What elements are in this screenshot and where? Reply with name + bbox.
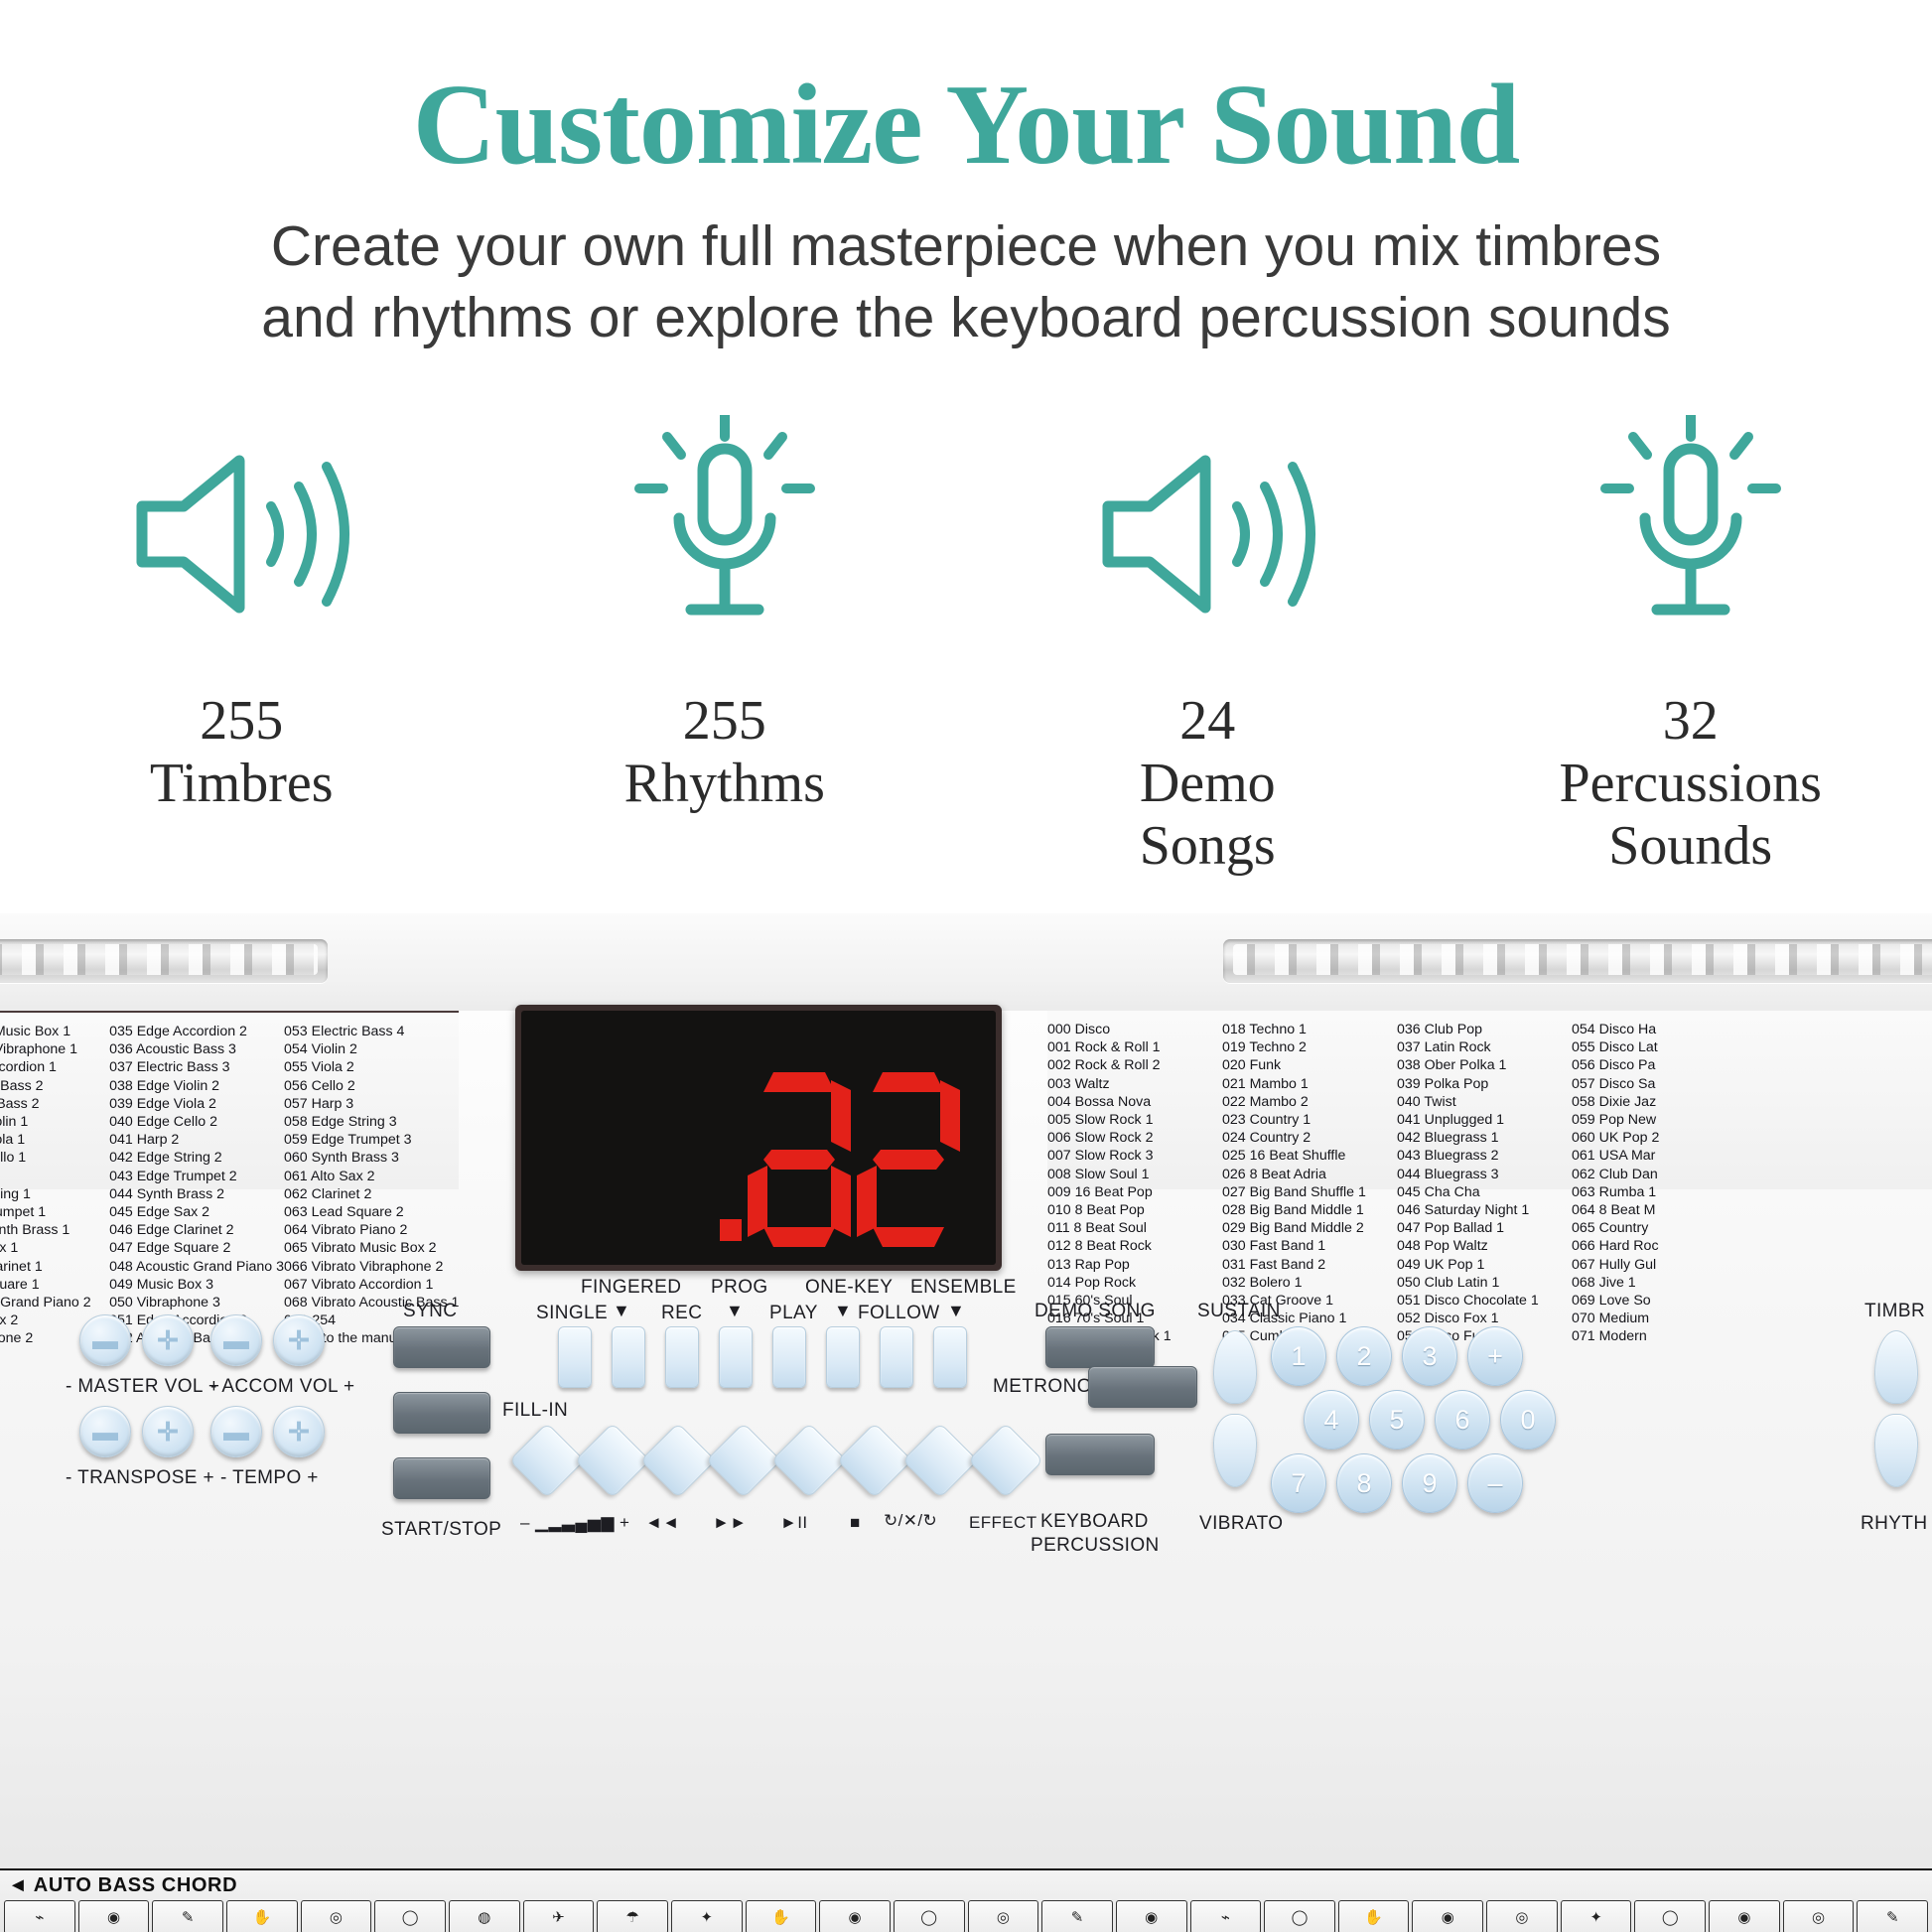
numpad-key-8[interactable]: 8 [1336,1453,1392,1513]
timbre-list-item: String 1 [0,1185,109,1203]
timbre-list-item: 040 Edge Cello 2 [109,1113,284,1131]
effect-label: EFFECT [969,1513,1037,1533]
speaker-wave-icon [1088,405,1326,663]
rhythm-list-item: 005 Slow Rock 1 [1047,1111,1222,1129]
numpad-key-3[interactable]: 3 [1402,1326,1457,1386]
rhythm-list-item: 000 Disco [1047,1021,1222,1038]
chord-icon[interactable]: ◉ [78,1900,150,1932]
chord-icon[interactable]: ◉ [1116,1900,1187,1932]
accom-vol-plus-button[interactable]: ✛ [273,1314,325,1366]
transpose-label: - TRANSPOSE + [66,1467,214,1489]
chord-icon[interactable]: ◯ [1264,1900,1335,1932]
chord-icon[interactable]: ◯ [894,1900,965,1932]
speaker-grille-left [0,939,328,983]
chord-icon[interactable]: ✎ [152,1900,223,1932]
rhythm-list-panel: 000 Disco001 Rock & Roll 1002 Rock & Rol… [1047,1011,1932,1189]
feature-count: 255 [683,689,766,753]
mode-button-play[interactable] [772,1326,806,1388]
chord-icon[interactable]: ✋ [746,1900,817,1932]
rhythm-list-item: 023 Country 1 [1222,1111,1397,1129]
rhythm-list-item: 029 Big Band Middle 2 [1222,1219,1397,1237]
feature-row: 255 Timbres 255 Rhythms [0,405,1932,878]
chord-icon[interactable]: ◍ [449,1900,520,1932]
timbre-list-item: 061 Alto Sax 2 [284,1168,459,1185]
timbre-list-item: 036 Acoustic Bass 3 [109,1040,284,1058]
rhythm-list-item: 061 USA Mar [1572,1147,1746,1165]
chevron-down-icon-3: ▼ [834,1301,852,1321]
mode-button-one-key[interactable] [826,1326,860,1388]
rhythm-list-item: 007 Slow Rock 3 [1047,1147,1222,1165]
timbre-list-item: 055 Viola 2 [284,1058,459,1076]
numpad-key-minus[interactable]: – [1467,1453,1523,1513]
demo-song-label: DEMO SONG [1035,1301,1156,1322]
fill-in-button[interactable] [393,1392,490,1434]
demo-song-button[interactable] [1045,1326,1155,1368]
numpad-key-plus[interactable]: + [1467,1326,1523,1386]
subtitle-line-1: Create your own full masterpiece when yo… [119,210,1813,282]
keyboard-photo: o Music Box 1o Vibraphone 1 Accordion 1t… [0,894,1932,1932]
start-stop-label: START/STOP [381,1519,501,1541]
timbre-list-item: 049 Music Box 3 [109,1276,284,1294]
timbre-list-item: 045 Edge Sax 2 [109,1203,284,1221]
play-pause-icon: ►II [780,1513,807,1533]
timbre-list-item: 054 Violin 2 [284,1040,459,1058]
timbre-list-item: 038 Edge Violin 2 [109,1077,284,1095]
chord-icon[interactable]: ◯ [1634,1900,1706,1932]
tempo-minus-button[interactable]: ▬ [210,1406,262,1457]
chord-icon[interactable]: ⌁ [1190,1900,1262,1932]
repeat-mode-button[interactable] [902,1423,978,1498]
rhythm-list-item: 071 Modern [1572,1327,1746,1345]
effect-button[interactable] [968,1423,1043,1498]
numpad-key-7[interactable]: 7 [1271,1453,1326,1513]
rhythm-list-item: 047 Pop Ballad 1 [1397,1219,1572,1237]
feature-demo-songs: 24 Demo Songs [966,405,1449,878]
chevron-down-icon-4: ▼ [947,1301,965,1321]
plus-icon: ✛ [288,1419,310,1445]
chord-icon[interactable]: ✋ [226,1900,298,1932]
product-feature-page: Customize Your Sound Create your own ful… [0,0,1932,1932]
rhythm-column-1: 000 Disco001 Rock & Roll 1002 Rock & Rol… [1047,1021,1222,1189]
timbre-list-item: Accordion 1 [0,1058,109,1076]
timbre-list-item: 048 Acoustic Grand Piano 3 [109,1258,284,1276]
chord-icon[interactable]: ◎ [1486,1900,1558,1932]
rhythm-list-item: 001 Rock & Roll 1 [1047,1038,1222,1056]
vibrato-button[interactable] [1213,1414,1257,1487]
sustain-label: SUSTAIN [1197,1301,1281,1322]
feature-label: Timbres [150,753,334,815]
feature-rhythms: 255 Rhythms [483,405,967,878]
chord-icon[interactable]: ◎ [968,1900,1039,1932]
speaker-grille-right [1223,939,1932,983]
feature-timbres: 255 Timbres [0,405,483,878]
page-title: Customize Your Sound [0,68,1932,183]
rhythm-column-4: 054 Disco Ha055 Disco Lat056 Disco Pa057… [1572,1021,1746,1189]
rhythm-list-item: 026 8 Beat Adria [1222,1166,1397,1183]
follow-label: FOLLOW [858,1303,940,1324]
rhythm-button[interactable] [1874,1414,1918,1487]
timbre-list-item: 053 Electric Bass 4 [284,1023,459,1040]
master-vol-plus-button[interactable]: ✛ [142,1314,194,1366]
previous-track-icon: ◄◄ [645,1513,679,1533]
chord-icon[interactable]: ✦ [1561,1900,1632,1932]
tempo-label: - TEMPO + [220,1467,319,1489]
numpad-key-2[interactable]: 2 [1336,1326,1392,1386]
numpad-key-9[interactable]: 9 [1402,1453,1457,1513]
metronome-button[interactable] [1088,1366,1197,1408]
rhythm-list-item: 014 Pop Rock [1047,1274,1222,1292]
rhythm-list-item: 056 Disco Pa [1572,1056,1746,1074]
timbre-list-item: 1 [0,1168,109,1185]
rhythm-list-item: 044 Bluegrass 3 [1397,1166,1572,1183]
timbre-list-item: Violin 1 [0,1113,109,1131]
led-display [515,1005,1002,1271]
mode-button-fingered[interactable] [612,1326,645,1388]
keyboard-percussion-button[interactable] [1045,1434,1155,1475]
timbre-list-item: Cello 1 [0,1149,109,1167]
rhythm-list-item: 030 Fast Band 1 [1222,1237,1397,1255]
timbre-list-panel: o Music Box 1o Vibraphone 1 Accordion 1t… [0,1011,459,1189]
start-stop-button[interactable] [393,1457,490,1499]
timbre-column-3: 053 Electric Bass 4054 Violin 2055 Viola… [284,1023,459,1189]
timbre-list-item: Viola 1 [0,1131,109,1149]
rhythm-list-item: 058 Dixie Jaz [1572,1093,1746,1111]
feature-label: Percussions [1560,753,1822,815]
prog-label: PROG [711,1277,768,1299]
chord-icon[interactable]: ◎ [1783,1900,1855,1932]
rhythm-list-item: 054 Disco Ha [1572,1021,1746,1038]
one-key-label: ONE-KEY [805,1277,893,1299]
rhythm-list-item: 009 16 Beat Pop [1047,1183,1222,1201]
timbre-list-item: tic Grand Piano 2 [0,1294,109,1311]
chord-icon[interactable]: ⌁ [4,1900,75,1932]
timbre-list-item: 039 Edge Viola 2 [109,1095,284,1113]
rhythm-list-item: 050 Club Latin 1 [1397,1274,1572,1292]
rhythm-list-item: 063 Rumba 1 [1572,1183,1746,1201]
rhythm-list-item: 070 Medium [1572,1310,1746,1327]
rhythm-list-item: 046 Saturday Night 1 [1397,1201,1572,1219]
chord-icon[interactable]: ◯ [374,1900,446,1932]
timbre-list-item: Trumpet 1 [0,1203,109,1221]
minus-icon: ▬ [223,1419,249,1445]
feature-label: Demo [1140,753,1276,815]
stop-button[interactable] [837,1423,912,1498]
ensemble-label: ENSEMBLE [910,1277,1017,1299]
rhythm-list-item: 051 Disco Chocolate 1 [1397,1292,1572,1310]
stop-icon: ■ [850,1513,861,1533]
keyboard-percussion-label-1: KEYBOARD [1040,1511,1149,1533]
chord-icon[interactable]: ◉ [1709,1900,1780,1932]
sync-label: SYNC [403,1301,457,1322]
numpad-key-5[interactable]: 5 [1369,1390,1425,1449]
rhythm-list-item: 062 Club Dan [1572,1166,1746,1183]
timbre-list-item: Clarinet 1 [0,1258,109,1276]
timbre-list-item: 065 Vibrato Music Box 2 [284,1239,459,1257]
rhythm-list-item: 049 UK Pop 1 [1397,1256,1572,1274]
led-decimal-point [720,1219,742,1241]
timbre-list-item: 056 Cello 2 [284,1077,459,1095]
play-label: PLAY [769,1303,818,1324]
timbre-column-1: o Music Box 1o Vibraphone 1 Accordion 1t… [0,1023,109,1189]
rhythm-list-item: 038 Ober Polka 1 [1397,1056,1572,1074]
timbre-list-item: 064 Vibrato Piano 2 [284,1221,459,1239]
rhythm-list-item: 020 Funk [1222,1056,1397,1074]
accom-vol-label: - ACCOM VOL + [210,1376,354,1398]
rhythm-list-item: 052 Disco Fox 1 [1397,1310,1572,1327]
led-digit-2 [857,1072,960,1247]
auto-bass-chord-label: ◄ AUTO BASS CHORD [8,1874,237,1897]
rhythm-label: RHYTH [1861,1513,1927,1535]
rhythm-list-item: 068 Jive 1 [1572,1274,1746,1292]
mode-button-single[interactable] [558,1326,592,1388]
timbre-list-item: 063 Lead Square 2 [284,1203,459,1221]
subtitle-line-2: and rhythms or explore the keyboard perc… [119,282,1813,353]
chord-icon[interactable]: ✎ [1857,1900,1928,1932]
rhythm-list-item: 031 Fast Band 2 [1222,1256,1397,1274]
timbre-list-item: 041 Harp 2 [109,1131,284,1149]
rhythm-list-item: 021 Mambo 1 [1222,1075,1397,1093]
rhythm-list-item: 019 Techno 2 [1222,1038,1397,1056]
timbre-list-item: Square 1 [0,1276,109,1294]
transpose-minus-button[interactable]: ▬ [79,1406,131,1457]
rhythm-column-3: 036 Club Pop037 Latin Rock038 Ober Polka… [1397,1021,1572,1189]
led-digits [720,1072,960,1247]
timbre-list-item: 035 Edge Accordion 2 [109,1023,284,1040]
timbre-list-item: Sax 1 [0,1239,109,1257]
timbre-label: TIMBR [1864,1301,1925,1322]
rhythm-list-item: 039 Polka Pop [1397,1075,1572,1093]
timbre-list-item: 066 Vibrato Vibraphone 2 [284,1258,459,1276]
feature-count: 32 [1663,689,1719,753]
rhythm-list-item: 065 Country [1572,1219,1746,1237]
minus-icon: ▬ [223,1327,249,1353]
rhythm-list-item: 055 Disco Lat [1572,1038,1746,1056]
timbre-list-item: 057 Harp 3 [284,1095,459,1113]
mode-button-prog[interactable] [719,1326,753,1388]
next-track-icon: ►► [713,1513,747,1533]
rhythm-list-item: 040 Twist [1397,1093,1572,1111]
timbre-list-item: 058 Edge String 3 [284,1113,459,1131]
timbre-list-item: 050 Vibraphone 3 [109,1294,284,1311]
keyboard-control-panel: o Music Box 1o Vibraphone 1 Accordion 1t… [0,1011,1932,1932]
next-track-button[interactable] [706,1423,781,1498]
chevron-down-icon-1: ▼ [613,1301,630,1321]
microphone-icon [606,405,844,663]
master-vol-minus-button[interactable]: ▬ [79,1314,131,1366]
led-screen [521,1011,996,1265]
fill-in-label: FILL-IN [502,1400,568,1422]
page-subtitle: Create your own full masterpiece when yo… [0,210,1932,354]
microphone-icon [1572,405,1810,663]
rhythm-list-item: 006 Slow Rock 2 [1047,1129,1222,1147]
rhythm-column-2: 018 Techno 1019 Techno 2020 Funk021 Mamb… [1222,1021,1397,1189]
rhythm-list-item: 036 Club Pop [1397,1021,1572,1038]
rhythm-list-item: 025 16 Beat Shuffle [1222,1147,1397,1165]
chord-icon[interactable]: ✎ [1041,1900,1113,1932]
sync-button[interactable] [393,1326,490,1368]
numpad-key-4[interactable]: 4 [1304,1390,1359,1449]
mode-button-rec[interactable] [665,1326,699,1388]
previous-track-button[interactable] [640,1423,716,1498]
keyboard-percussion-label-2: PERCUSSION [1031,1535,1160,1557]
timbre-list-item: 042 Edge String 2 [109,1149,284,1167]
rec-label: REC [661,1303,702,1324]
led-digit-6 [748,1072,851,1247]
timbre-list-item: 047 Edge Square 2 [109,1239,284,1257]
chord-icon[interactable]: ☂ [597,1900,668,1932]
rhythm-list-item: 024 Country 2 [1222,1129,1397,1147]
numpad-key-6[interactable]: 6 [1435,1390,1490,1449]
rhythm-list-item: 066 Hard Roc [1572,1237,1746,1255]
auto-bass-chord-strip: ◄ AUTO BASS CHORD ⌁◉✎✋◎◯◍✈☂✦✋◉◯◎✎◉⌁◯✋◉◎✦… [0,1868,1932,1932]
feature-count: 24 [1179,689,1235,753]
mode-button-follow[interactable] [880,1326,913,1388]
rhythm-list-item: 012 8 Beat Rock [1047,1237,1222,1255]
rhythm-list-item: 027 Big Band Shuffle 1 [1222,1183,1397,1201]
minus-icon: ▬ [92,1419,118,1445]
rhythm-list-item: 064 8 Beat M [1572,1201,1746,1219]
timbre-list-item: o Vibraphone 1 [0,1040,109,1058]
timbre-list-item: 059 Edge Trumpet 3 [284,1131,459,1149]
timbre-column-2: 035 Edge Accordion 2036 Acoustic Bass 30… [109,1023,284,1189]
volume-down-button[interactable] [509,1423,585,1498]
mode-button-ensemble[interactable] [933,1326,967,1388]
numpad-key-1[interactable]: 1 [1271,1326,1326,1386]
feature-label: Rhythms [624,753,825,815]
play-pause-button[interactable] [771,1423,847,1498]
volume-slider-label: – ▁▂▃▄▅▆ + [520,1513,629,1533]
rhythm-list-item: 059 Pop New [1572,1111,1746,1129]
rhythm-list-item: 057 Disco Sa [1572,1075,1746,1093]
timbre-button[interactable] [1874,1330,1918,1404]
rhythm-list-item: 002 Rock & Roll 2 [1047,1056,1222,1074]
timbre-list-item: 043 Edge Trumpet 2 [109,1168,284,1185]
rhythm-list-item: 004 Bossa Nova [1047,1093,1222,1111]
timbre-list-item: 062 Clarinet 2 [284,1185,459,1203]
master-vol-label: - MASTER VOL + [66,1376,219,1398]
rhythm-list-item: 045 Cha Cha [1397,1183,1572,1201]
rhythm-list-item: 010 8 Beat Pop [1047,1201,1222,1219]
transpose-plus-button[interactable]: ✛ [142,1406,194,1457]
chord-icon[interactable]: ◉ [819,1900,891,1932]
accom-vol-minus-button[interactable]: ▬ [210,1314,262,1366]
rhythm-list-item: 067 Hully Gul [1572,1256,1746,1274]
rhythm-list-item: 060 UK Pop 2 [1572,1129,1746,1147]
plus-icon: ✛ [157,1327,179,1353]
vibrato-label: VIBRATO [1199,1513,1283,1535]
rhythm-list-item: 022 Mambo 2 [1222,1093,1397,1111]
rhythm-list-item: 032 Bolero 1 [1222,1274,1397,1292]
tempo-plus-button[interactable]: ✛ [273,1406,325,1457]
timbre-list-item: o Music Box 1 [0,1023,109,1040]
plus-icon: ✛ [288,1327,310,1353]
plus-icon: ✛ [157,1419,179,1445]
single-label: SINGLE [536,1303,608,1324]
feature-percussion-sounds: 32 Percussions Sounds [1449,405,1932,878]
minus-icon: ▬ [92,1327,118,1353]
feature-count: 255 [200,689,283,753]
timbre-list-item: tic Bass 2 [0,1077,109,1095]
feature-label-2: Songs [1140,815,1276,878]
fingered-label: FINGERED [581,1277,681,1299]
chord-icon[interactable]: ◉ [1412,1900,1483,1932]
rhythm-list-item: 028 Big Band Middle 1 [1222,1201,1397,1219]
rhythm-list-item: 069 Love So [1572,1292,1746,1310]
volume-up-button[interactable] [575,1423,650,1498]
numpad-key-0[interactable]: 0 [1500,1390,1556,1449]
rhythm-list-item: 003 Waltz [1047,1075,1222,1093]
chord-icon[interactable]: ✋ [1338,1900,1410,1932]
chord-icon[interactable]: ◎ [301,1900,372,1932]
rhythm-list-item: 043 Bluegrass 2 [1397,1147,1572,1165]
rhythm-list-item: 018 Techno 1 [1222,1021,1397,1038]
chevron-down-icon-2: ▼ [726,1301,744,1321]
feature-label-2: Sounds [1608,815,1772,878]
speaker-wave-icon [122,405,360,663]
rhythm-list-item: 013 Rap Pop [1047,1256,1222,1274]
rhythm-list-item: 042 Bluegrass 1 [1397,1129,1572,1147]
rhythm-list-item: 041 Unplugged 1 [1397,1111,1572,1129]
timbre-list-item: 037 Electric Bass 3 [109,1058,284,1076]
chord-icon-row: ⌁◉✎✋◎◯◍✈☂✦✋◉◯◎✎◉⌁◯✋◉◎✦◯◉◎✎ [0,1900,1932,1932]
rhythm-list-item: 008 Slow Soul 1 [1047,1166,1222,1183]
repeat-mode-icon: ↻/✕/↻ [884,1511,937,1531]
rhythm-list-item: 048 Pop Waltz [1397,1237,1572,1255]
timbre-list-item: 060 Synth Brass 3 [284,1149,459,1167]
timbre-list-item: Synth Brass 1 [0,1221,109,1239]
timbre-list-item: 067 Vibrato Accordion 1 [284,1276,459,1294]
timbre-list-item: ic Bass 2 [0,1095,109,1113]
timbre-list-item: 044 Synth Brass 2 [109,1185,284,1203]
rhythm-list-item: 011 8 Beat Soul [1047,1219,1222,1237]
chord-icon[interactable]: ✦ [671,1900,743,1932]
chord-icon[interactable]: ✈ [523,1900,595,1932]
rhythm-list-item: 037 Latin Rock [1397,1038,1572,1056]
timbre-list-item: 046 Edge Clarinet 2 [109,1221,284,1239]
